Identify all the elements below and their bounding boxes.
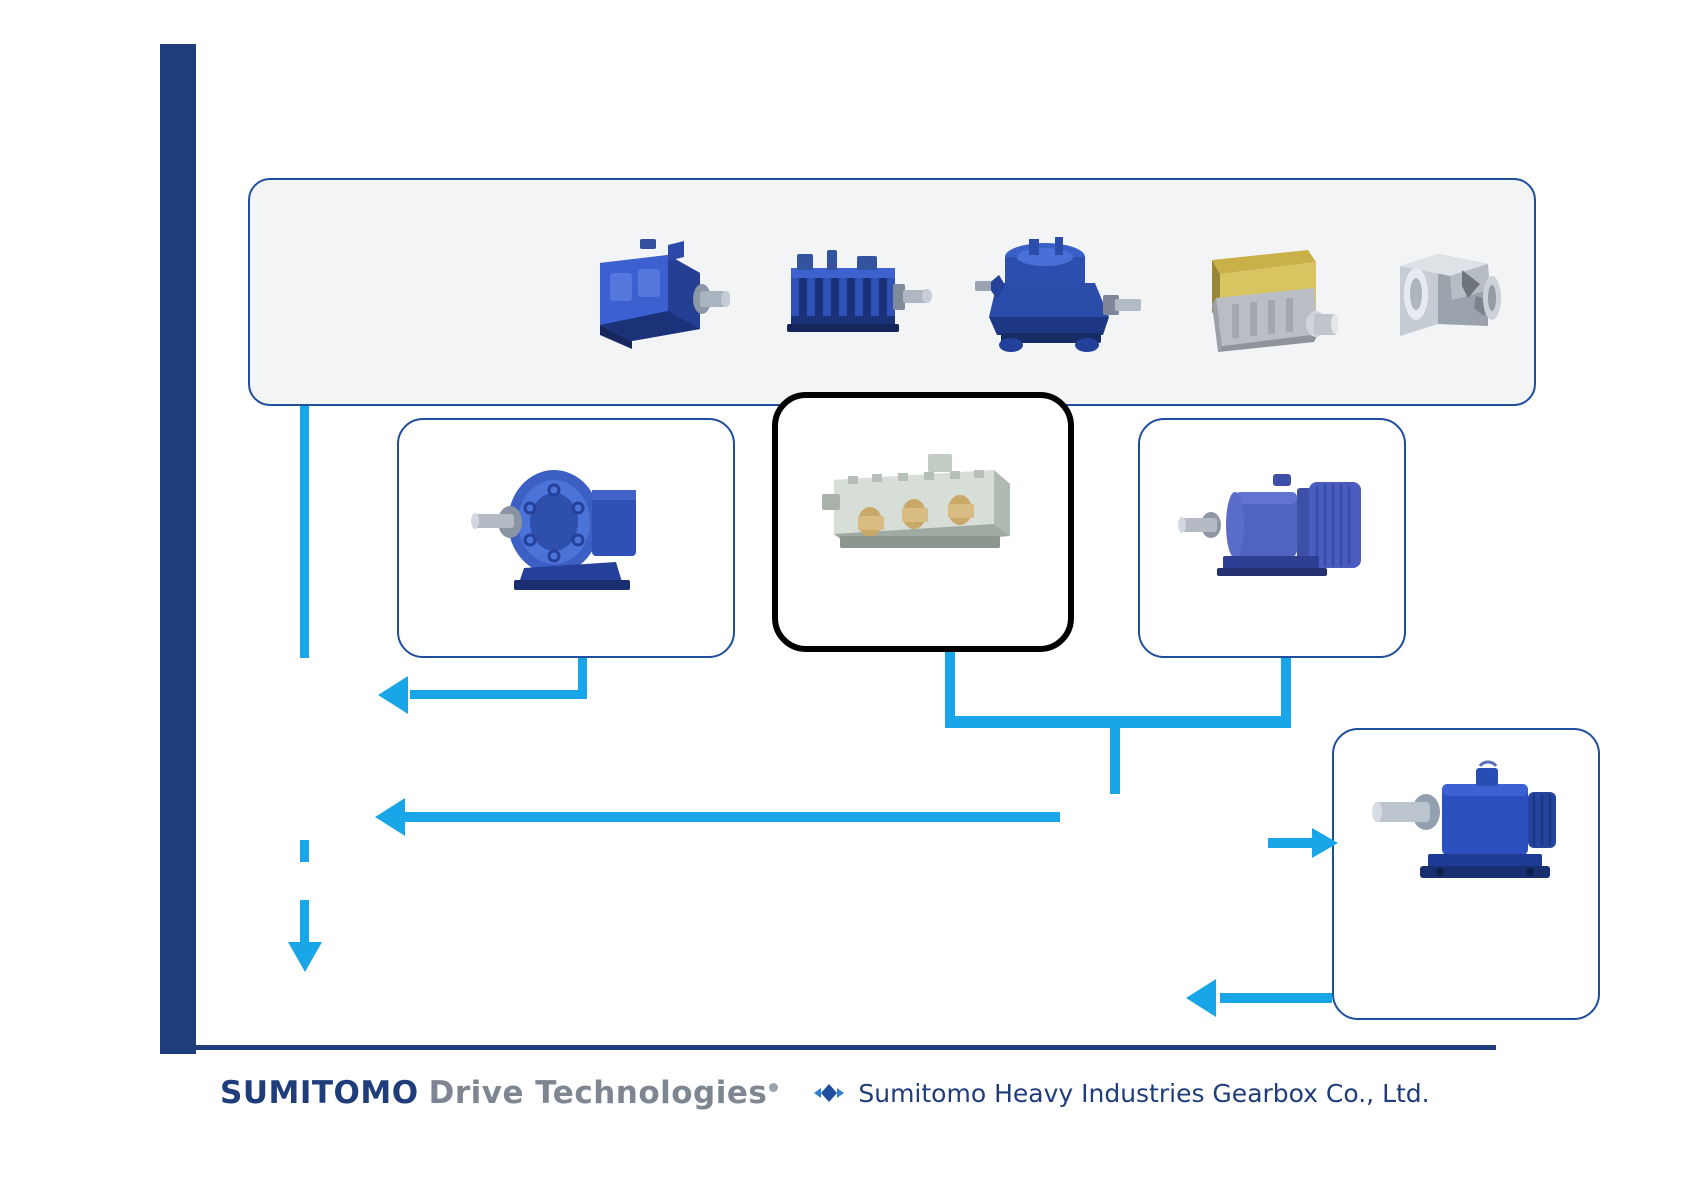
coupling-assembly-image [1380, 240, 1520, 355]
industrial-gearbox-image [778, 440, 1068, 570]
footer-company-text: Sumitomo Heavy Industries Gearbox Co., L… [858, 1079, 1429, 1108]
logo-primary-text: SUMITOMO [220, 1075, 419, 1111]
connector-card1-to-left-arrow [378, 676, 408, 714]
connector-card3-down [1281, 658, 1291, 720]
card-helical-gearmotor[interactable] [1138, 418, 1406, 658]
footer-divider [196, 1045, 1496, 1050]
connector-card2-down [945, 652, 955, 720]
connector-merge-stem [1110, 728, 1120, 794]
slide-canvas: SUMITOMODrive Technologies Sumitomo Heav… [0, 0, 1685, 1191]
foot-mount-gearmotor-image [1334, 758, 1598, 888]
sumitomo-logo: SUMITOMODrive Technologies [220, 1075, 778, 1111]
parallel-shaft-gearbox-image [773, 240, 933, 355]
card-cyclo-planetary[interactable] [397, 418, 735, 658]
connector-vertical-dashed-down [300, 900, 309, 948]
helical-gearmotor-image [1140, 452, 1404, 592]
product-family-panel[interactable] [248, 178, 1536, 406]
connector-merge-to-left-line [405, 812, 1060, 822]
logo-secondary-text: Drive Technologies [429, 1075, 768, 1111]
left-accent-bar [160, 44, 196, 1054]
connector-vertical-dash [300, 840, 309, 862]
vertical-mill-drive-image [975, 233, 1145, 363]
connector-top-panel-to-left [300, 406, 309, 658]
connector-merge-horizontal [945, 716, 1291, 728]
logo-dot-icon [769, 1083, 778, 1092]
connector-into-foot-mount-card [1312, 828, 1338, 858]
connector-foot-mount-out-line [1220, 993, 1332, 1003]
connector-foot-mount-out-left [1186, 979, 1216, 1017]
card-industrial-gearbox[interactable] [772, 392, 1074, 652]
footer-company: Sumitomo Heavy Industries Gearbox Co., L… [812, 1079, 1429, 1108]
sumitomo-mark-icon [812, 1083, 846, 1103]
connector-vertical-down-arrow [288, 942, 322, 972]
gear-housing-casting-image [1188, 238, 1338, 358]
cyclo-planetary-gearmotor-image [399, 450, 733, 600]
footer: SUMITOMODrive Technologies Sumitomo Heav… [220, 1058, 1420, 1128]
card-foot-mount-gearmotor[interactable] [1332, 728, 1600, 1020]
connector-merge-to-left-arrow [375, 798, 405, 836]
product-family-row [580, 190, 1520, 405]
connector-into-foot-mount-line [1268, 838, 1315, 848]
connector-card1-horizontal [410, 690, 587, 699]
bevel-helical-gearbox-image [580, 233, 730, 363]
